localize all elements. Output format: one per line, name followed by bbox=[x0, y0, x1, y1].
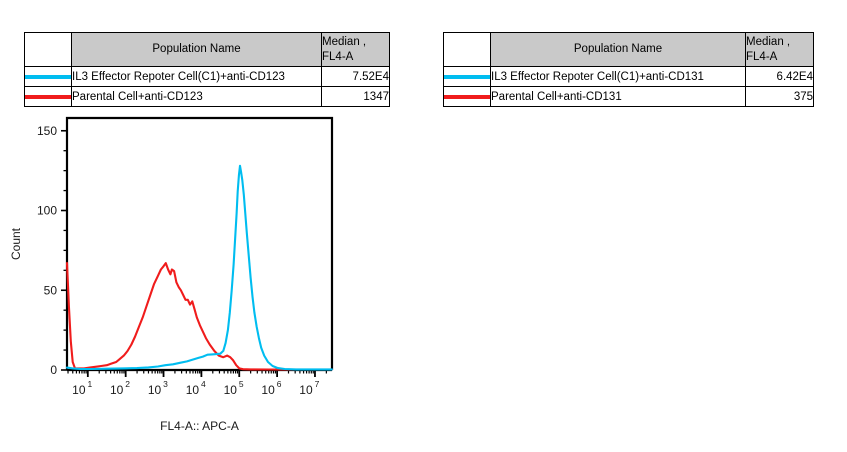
legend-header-row: Population Name Median , FL4-A bbox=[25, 33, 390, 67]
svg-text:6: 6 bbox=[277, 379, 282, 389]
y-tick-label: 50 bbox=[44, 283, 58, 297]
color-swatch-cyan bbox=[25, 75, 71, 79]
svg-text:10: 10 bbox=[261, 383, 275, 397]
histogram-trace bbox=[67, 166, 332, 370]
legend-population-name: Parental Cell+anti-CD131 bbox=[491, 87, 746, 107]
histogram-plot-cd123: 050100150101102103104105106107CountFL4-A… bbox=[0, 104, 423, 452]
svg-text:3: 3 bbox=[163, 379, 168, 389]
plot-frame bbox=[67, 118, 332, 370]
legend-header-median-line1: Median , bbox=[746, 35, 813, 49]
legend-header-row: Population Name Median , FL4-A bbox=[444, 33, 814, 67]
legend-header-population: Population Name bbox=[491, 33, 746, 67]
legend-header-swatch bbox=[444, 33, 491, 67]
legend-header-population: Population Name bbox=[72, 33, 322, 67]
legend-swatch-cell bbox=[25, 67, 72, 87]
x-tick-label: 103 bbox=[148, 379, 168, 397]
x-tick-label: 107 bbox=[299, 379, 319, 397]
svg-text:10: 10 bbox=[186, 383, 200, 397]
x-axis-label: FL4-A:: APC-A bbox=[160, 419, 239, 433]
panel-cd123: Population Name Median , FL4-A IL3 Effec… bbox=[0, 0, 423, 452]
table-row: IL3 Effector Repoter Cell(C1)+anti-CD123… bbox=[25, 67, 390, 87]
color-swatch-cyan bbox=[444, 75, 490, 79]
y-tick-label: 0 bbox=[50, 363, 57, 377]
table-row: IL3 Effector Repoter Cell(C1)+anti-CD131… bbox=[444, 67, 814, 87]
legend-median-value: 7.52E4 bbox=[322, 67, 390, 87]
svg-text:10: 10 bbox=[72, 383, 86, 397]
legend-header-swatch bbox=[25, 33, 72, 67]
y-axis-label: Count bbox=[9, 227, 23, 260]
color-swatch-red bbox=[25, 95, 71, 99]
histogram-trace bbox=[67, 263, 332, 369]
x-tick-label: 106 bbox=[261, 379, 281, 397]
legend-header-median: Median , FL4-A bbox=[746, 33, 814, 67]
legend-header-median-line2: FL4-A bbox=[322, 50, 389, 64]
x-tick-label: 102 bbox=[110, 379, 130, 397]
legend-table-cd131: Population Name Median , FL4-A IL3 Effec… bbox=[443, 32, 814, 107]
svg-text:2: 2 bbox=[125, 379, 130, 389]
legend-population-name: IL3 Effector Repoter Cell(C1)+anti-CD123 bbox=[72, 67, 322, 87]
svg-text:10: 10 bbox=[110, 383, 124, 397]
y-tick-label: 150 bbox=[37, 124, 57, 138]
svg-text:1: 1 bbox=[87, 379, 92, 389]
svg-text:4: 4 bbox=[201, 379, 206, 389]
svg-text:10: 10 bbox=[148, 383, 162, 397]
panel-cd131: Population Name Median , FL4-A IL3 Effec… bbox=[424, 0, 847, 452]
legend-population-name: IL3 Effector Repoter Cell(C1)+anti-CD131 bbox=[491, 67, 746, 87]
legend-swatch-cell bbox=[444, 87, 491, 107]
legend-header-median: Median , FL4-A bbox=[322, 33, 390, 67]
table-row: Parental Cell+anti-CD131 375 bbox=[444, 87, 814, 107]
svg-text:10: 10 bbox=[299, 383, 313, 397]
histogram-svg: 050100150101102103104105106107CountFL4-A… bbox=[0, 104, 423, 452]
color-swatch-red bbox=[444, 95, 490, 99]
x-tick-label: 104 bbox=[186, 379, 206, 397]
legend-swatch-cell bbox=[444, 67, 491, 87]
svg-text:10: 10 bbox=[224, 383, 238, 397]
x-tick-label: 105 bbox=[224, 379, 244, 397]
y-tick-label: 100 bbox=[37, 204, 57, 218]
svg-text:7: 7 bbox=[315, 379, 320, 389]
legend-header-median-line2: FL4-A bbox=[746, 50, 813, 64]
legend-median-value: 375 bbox=[746, 87, 814, 107]
svg-text:5: 5 bbox=[239, 379, 244, 389]
legend-table-cd123: Population Name Median , FL4-A IL3 Effec… bbox=[24, 32, 390, 107]
legend-median-value: 6.42E4 bbox=[746, 67, 814, 87]
x-tick-label: 101 bbox=[72, 379, 92, 397]
legend-header-median-line1: Median , bbox=[322, 35, 389, 49]
